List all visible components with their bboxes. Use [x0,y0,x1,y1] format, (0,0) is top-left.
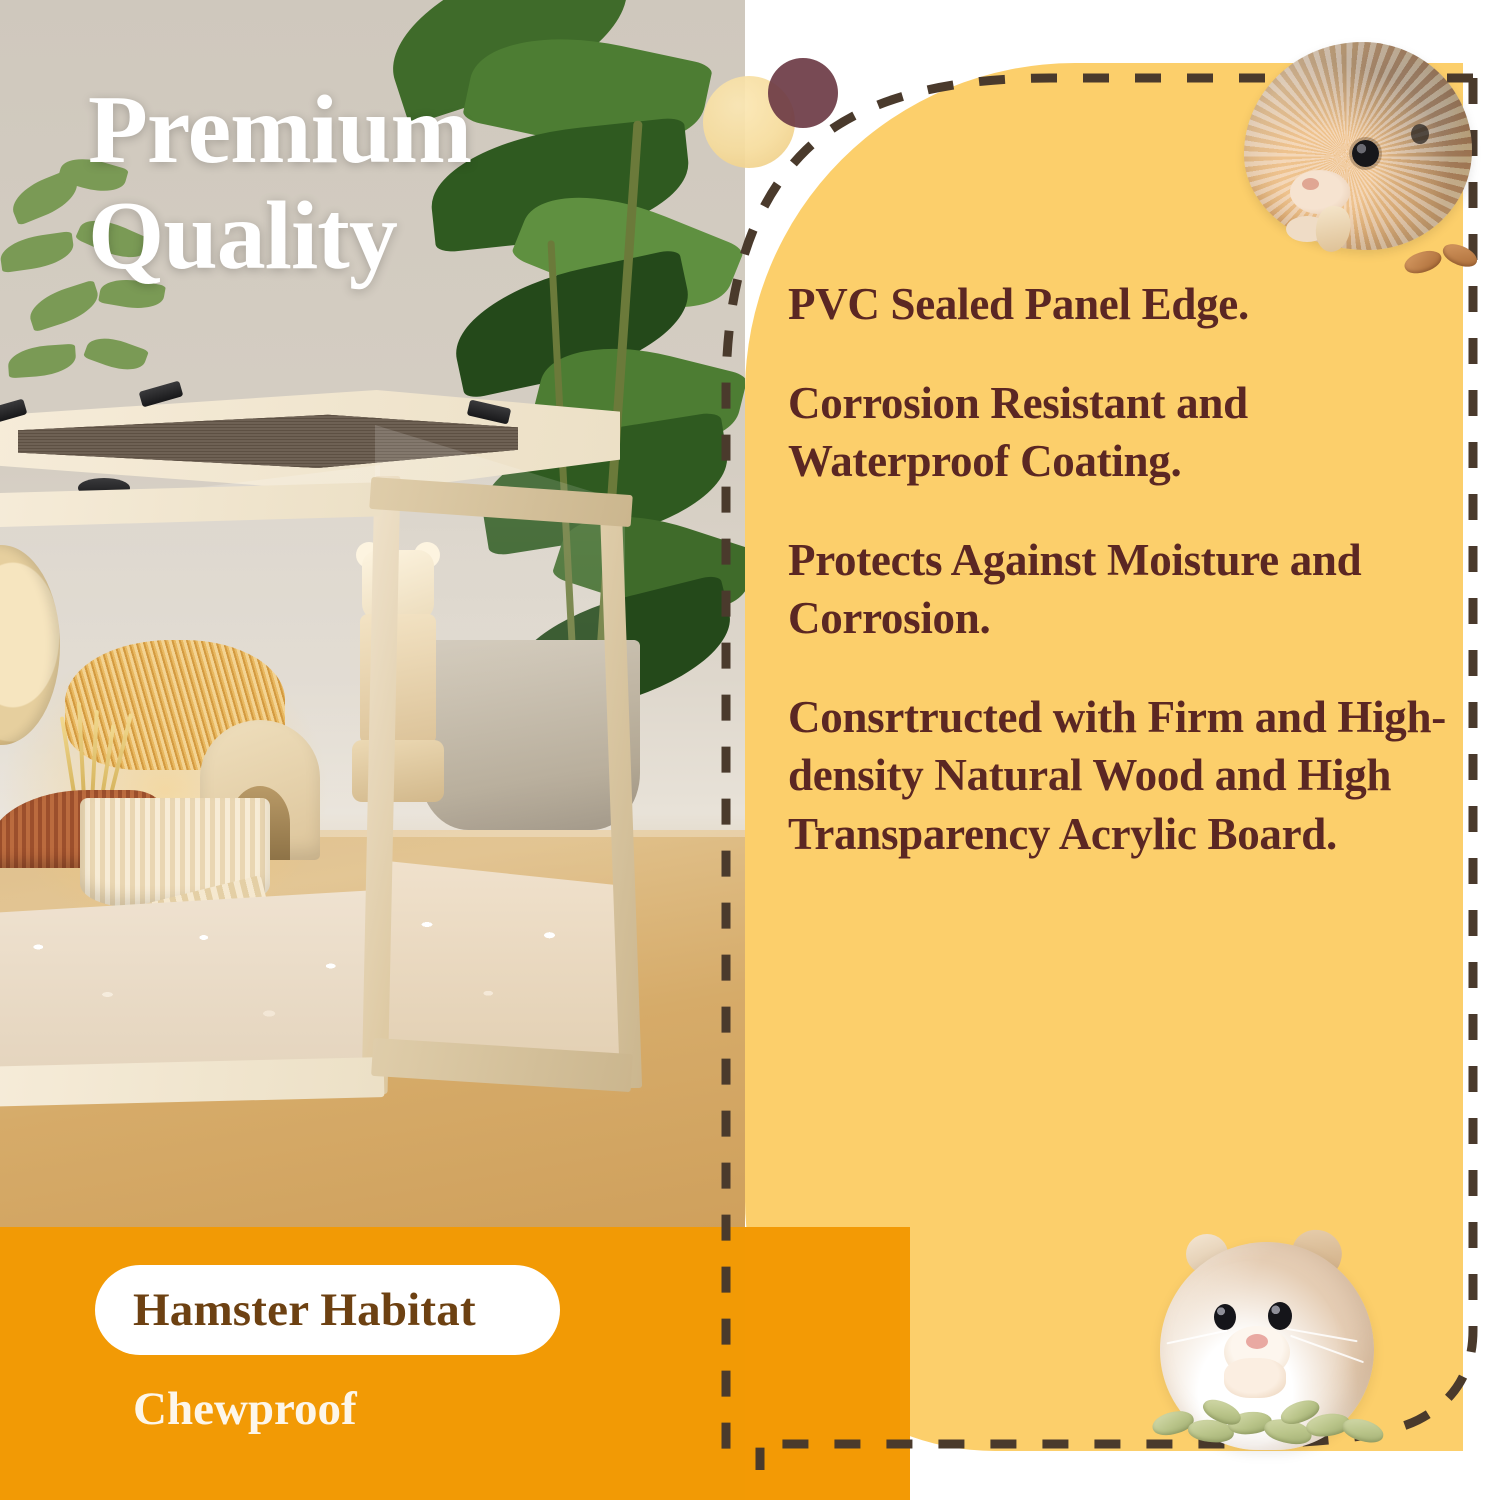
pumpkin-seed [1340,1415,1386,1447]
feature-item: PVC Sealed Panel Edge. [788,275,1448,334]
infographic-canvas: Premium Quality PVC Sealed Panel Edge. C… [0,0,1488,1500]
hamster-eye-right [1268,1302,1292,1330]
cage-bottom-rail [0,1057,384,1107]
bottom-orange-bar-overlay [745,1227,910,1500]
habitat-badge-label: Hamster Habitat [133,1272,476,1348]
hamster-nose [1302,178,1319,190]
maroon-circle-decoration [768,58,838,128]
feature-item: Corrosion Resistant and Waterproof Coati… [788,374,1448,491]
hamster-top-right [1228,20,1488,270]
bedding-front [0,890,377,1080]
hamster-paws [1224,1358,1286,1398]
hamster-cage [0,390,670,1190]
hamster-nose [1246,1334,1268,1349]
seed-crumb [1440,240,1480,271]
page-title: Premium Quality [88,78,688,290]
hamster-eye-left [1214,1304,1236,1330]
hamster-ear [1411,124,1429,144]
chewproof-label: Chewproof [133,1380,357,1438]
hamster-eye [1352,140,1379,167]
feature-item: Protects Against Moisture and Corrosion. [788,531,1448,648]
feature-item: Consrtructed with Firm and High-density … [788,688,1448,864]
features-list: PVC Sealed Panel Edge. Corrosion Resista… [788,275,1448,863]
hamster-bottom-right [1146,1230,1446,1490]
